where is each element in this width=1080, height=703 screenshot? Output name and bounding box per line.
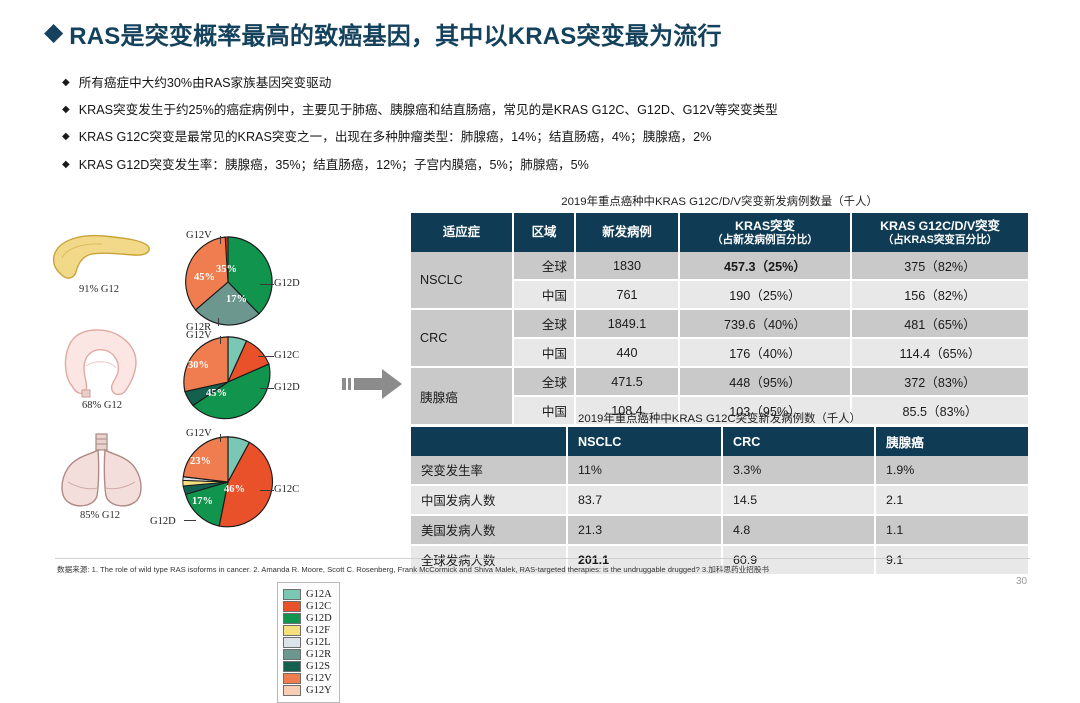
legend-swatch-icon <box>283 685 301 696</box>
pancreas-caption: 91% G12 <box>39 284 159 295</box>
legend-item: G12V <box>283 673 332 684</box>
legend-label: G12D <box>306 613 332 624</box>
cell-nsclc: 83.7 <box>567 485 722 515</box>
pie-slice-label: 45% <box>194 272 215 283</box>
cell-kras: 739.6（40%） <box>679 309 851 338</box>
cell-g12cdv: 156（82%） <box>851 280 1028 309</box>
pie-slice-label: 45% <box>206 388 227 399</box>
table-row: CRC 全球 1849.1 739.6（40%） 481（65%） <box>411 309 1028 338</box>
cell-crc: 4.8 <box>722 515 875 545</box>
cell-new-cases: 761 <box>575 280 679 309</box>
legend-swatch-icon <box>283 589 301 600</box>
cell-g12cdv: 375（82%） <box>851 252 1028 280</box>
legend-item: G12L <box>283 637 332 648</box>
pie-callout-label: G12C <box>274 484 299 495</box>
col-header-crc: CRC <box>722 427 875 456</box>
bullet-diamond-icon: ◆ <box>62 130 70 145</box>
pie-slice-label: 35% <box>216 264 237 275</box>
legend-label: G12Y <box>306 685 332 696</box>
g12c-incidence-table: NSCLC CRC 胰腺癌 突变发生率 11% 3.3% 1.9% 中国发病人数… <box>411 427 1028 576</box>
pie-slice-label: 17% <box>226 294 247 305</box>
col-header-indication: 适应症 <box>411 213 513 252</box>
legend-label: G12R <box>306 649 331 660</box>
title-diamond-icon: ◆ <box>44 20 63 45</box>
pie-slice-label: 30% <box>188 360 209 371</box>
colon-caption: 68% G12 <box>42 400 162 411</box>
bullet-text: KRAS G12C突变是最常见的KRAS突变之一，出现在多种肿瘤类型：肺腺癌，1… <box>79 130 712 146</box>
legend-label: G12V <box>306 673 332 684</box>
colon-illustration <box>56 326 148 398</box>
cell-nsclc: 11% <box>567 456 722 485</box>
bullet-list: ◆ 所有癌症中大约30%由RAS家族基因突变驱动 ◆ KRAS突变发生于约25%… <box>62 76 1042 185</box>
legend-label: G12C <box>306 601 331 612</box>
legend-label: G12L <box>306 637 331 648</box>
legend-swatch-icon <box>283 625 301 636</box>
legend-swatch-icon <box>283 637 301 648</box>
col-header-g12cdv: KRAS G12C/D/V突变 （占KRAS突变百分比） <box>851 213 1028 252</box>
pie-callout-label: G12D <box>150 516 176 527</box>
pie-svg <box>180 334 276 430</box>
bullet-text: 所有癌症中大约30%由RAS家族基因突变驱动 <box>79 76 332 92</box>
pancreas-illustration <box>46 230 154 282</box>
legend-item: G12F <box>283 625 332 636</box>
cell-g12cdv: 114.4（65%） <box>851 338 1028 367</box>
list-item: ◆ KRAS G12D突变发生率：胰腺癌，35%；结直肠癌，12%；子宫内膜癌，… <box>62 158 1042 174</box>
col-header-kras-mutation: KRAS突变 （占新发病例百分比） <box>679 213 851 252</box>
cell-region: 全球 <box>513 309 575 338</box>
cell-new-cases: 1830 <box>575 252 679 280</box>
flow-arrow <box>342 366 406 402</box>
cell-kras: 448（95%） <box>679 367 851 396</box>
list-item: ◆ KRAS G12C突变是最常见的KRAS突变之一，出现在多种肿瘤类型：肺腺癌… <box>62 130 1042 146</box>
legend-label: G12A <box>306 589 332 600</box>
col-header-pancreatic: 胰腺癌 <box>875 427 1028 456</box>
cell-new-cases: 1849.1 <box>575 309 679 338</box>
page-title: ◆ RAS是突变概率最高的致癌基因，其中以KRAS突变最为流行 <box>44 16 722 51</box>
pie-slice-label: 23% <box>190 456 211 467</box>
footer-divider <box>55 558 1030 559</box>
legend-swatch-icon <box>283 661 301 672</box>
bullet-diamond-icon: ◆ <box>62 76 70 91</box>
table-header-row: NSCLC CRC 胰腺癌 <box>411 427 1028 456</box>
cell-pancreatic: 9.1 <box>875 545 1028 575</box>
pancreas-pie-chart: 45% 35% 17% G12D G12V G12R <box>148 234 348 330</box>
table-header-row: 适应症 区域 新发病例 KRAS突变 （占新发病例百分比） KRAS G12C/… <box>411 213 1028 252</box>
col-header-metric <box>411 427 567 456</box>
mutation-distribution-figure: 91% G12 68% G12 85% G12 <box>34 218 364 538</box>
table2-caption: 2019年重点癌种中KRAS G12C突变新发病例数（千人） <box>411 410 1028 426</box>
pie-slice-label: 17% <box>192 496 213 507</box>
pie-callout-label: G12V <box>186 230 212 241</box>
table-row: 胰腺癌 全球 471.5 448（95%） 372（83%） <box>411 367 1028 396</box>
pie-legend: G12A G12C G12D G12F G12L G12R <box>277 582 340 703</box>
cell-new-cases: 471.5 <box>575 367 679 396</box>
cell-metric-label: 突变发生率 <box>411 456 567 485</box>
legend-item: G12S <box>283 661 332 672</box>
legend-item: G12A <box>283 589 332 600</box>
pie-callout-label: G12V <box>186 330 212 341</box>
col-header-new-cases: 新发病例 <box>575 213 679 252</box>
cell-crc: 3.3% <box>722 456 875 485</box>
cell-metric-label: 美国发病人数 <box>411 515 567 545</box>
cell-g12cdv: 481（65%） <box>851 309 1028 338</box>
cell-pancreatic: 1.9% <box>875 456 1028 485</box>
legend-swatch-icon <box>283 649 301 660</box>
table-row: 美国发病人数 21.3 4.8 1.1 <box>411 515 1028 545</box>
legend-swatch-icon <box>283 601 301 612</box>
pie-slice-label: 46% <box>224 484 245 495</box>
cell-region: 中国 <box>513 338 575 367</box>
pie-callout-label: G12D <box>274 382 300 393</box>
table1-caption: 2019年重点癌种中KRAS G12C/D/V突变新发病例数量（千人） <box>411 193 1028 209</box>
pie-svg <box>180 434 276 530</box>
legend-label: G12S <box>306 661 330 672</box>
cell-nsclc: 21.3 <box>567 515 722 545</box>
bullet-diamond-icon: ◆ <box>62 103 70 118</box>
table-row: 突变发生率 11% 3.3% 1.9% <box>411 456 1028 485</box>
bullet-diamond-icon: ◆ <box>62 158 70 173</box>
legend-swatch-icon <box>283 613 301 624</box>
col-header-region: 区域 <box>513 213 575 252</box>
kras-mutation-table: 适应症 区域 新发病例 KRAS突变 （占新发病例百分比） KRAS G12C/… <box>411 213 1028 426</box>
source-note: 数据来源: 1. The role of wild type RAS isofo… <box>57 564 769 575</box>
colorectal-pie-chart: 45% 30% G12D G12V G12C <box>148 334 348 430</box>
page-number: 30 <box>1016 576 1027 587</box>
table-row: NSCLC 全球 1830 457.3（25%） 375（82%） <box>411 252 1028 280</box>
lung-pie-chart: 46% 23% 17% G12C G12V G12D <box>148 434 348 530</box>
cell-g12cdv: 372（83%） <box>851 367 1028 396</box>
cell-indication: CRC <box>411 309 513 367</box>
cell-pancreatic: 2.1 <box>875 485 1028 515</box>
lung-caption: 85% G12 <box>40 510 160 521</box>
legend-item: G12D <box>283 613 332 624</box>
legend-item: G12C <box>283 601 332 612</box>
legend-label: G12F <box>306 625 330 636</box>
page-title-text: RAS是突变概率最高的致癌基因，其中以KRAS突变最为流行 <box>69 16 721 51</box>
cell-pancreatic: 1.1 <box>875 515 1028 545</box>
cell-crc: 14.5 <box>722 485 875 515</box>
pie-callout-label: G12D <box>274 278 300 289</box>
table-row: 中国发病人数 83.7 14.5 2.1 <box>411 485 1028 515</box>
col-header-nsclc: NSCLC <box>567 427 722 456</box>
cell-region: 中国 <box>513 280 575 309</box>
legend-item: G12R <box>283 649 332 660</box>
bullet-text: KRAS G12D突变发生率：胰腺癌，35%；结直肠癌，12%；子宫内膜癌，5%… <box>79 158 589 174</box>
cell-indication: NSCLC <box>411 252 513 309</box>
pie-callout-label: G12C <box>274 350 299 361</box>
cell-region: 全球 <box>513 252 575 280</box>
slide-root: ◆ RAS是突变概率最高的致癌基因，其中以KRAS突变最为流行 ◆ 所有癌症中大… <box>0 0 1080 608</box>
cell-new-cases: 440 <box>575 338 679 367</box>
list-item: ◆ 所有癌症中大约30%由RAS家族基因突变驱动 <box>62 76 1042 92</box>
list-item: ◆ KRAS突变发生于约25%的癌症病例中，主要见于肺癌、胰腺癌和结直肠癌，常见… <box>62 103 1042 119</box>
lung-illustration <box>54 432 150 510</box>
cell-metric-label: 中国发病人数 <box>411 485 567 515</box>
legend-item: G12Y <box>283 685 332 696</box>
cell-region: 全球 <box>513 367 575 396</box>
cell-kras: 457.3（25%） <box>679 252 851 280</box>
legend-swatch-icon <box>283 673 301 684</box>
bullet-text: KRAS突变发生于约25%的癌症病例中，主要见于肺癌、胰腺癌和结直肠癌，常见的是… <box>79 103 778 119</box>
pie-callout-label: G12V <box>186 428 212 439</box>
cell-kras: 190（25%） <box>679 280 851 309</box>
cell-kras: 176（40%） <box>679 338 851 367</box>
